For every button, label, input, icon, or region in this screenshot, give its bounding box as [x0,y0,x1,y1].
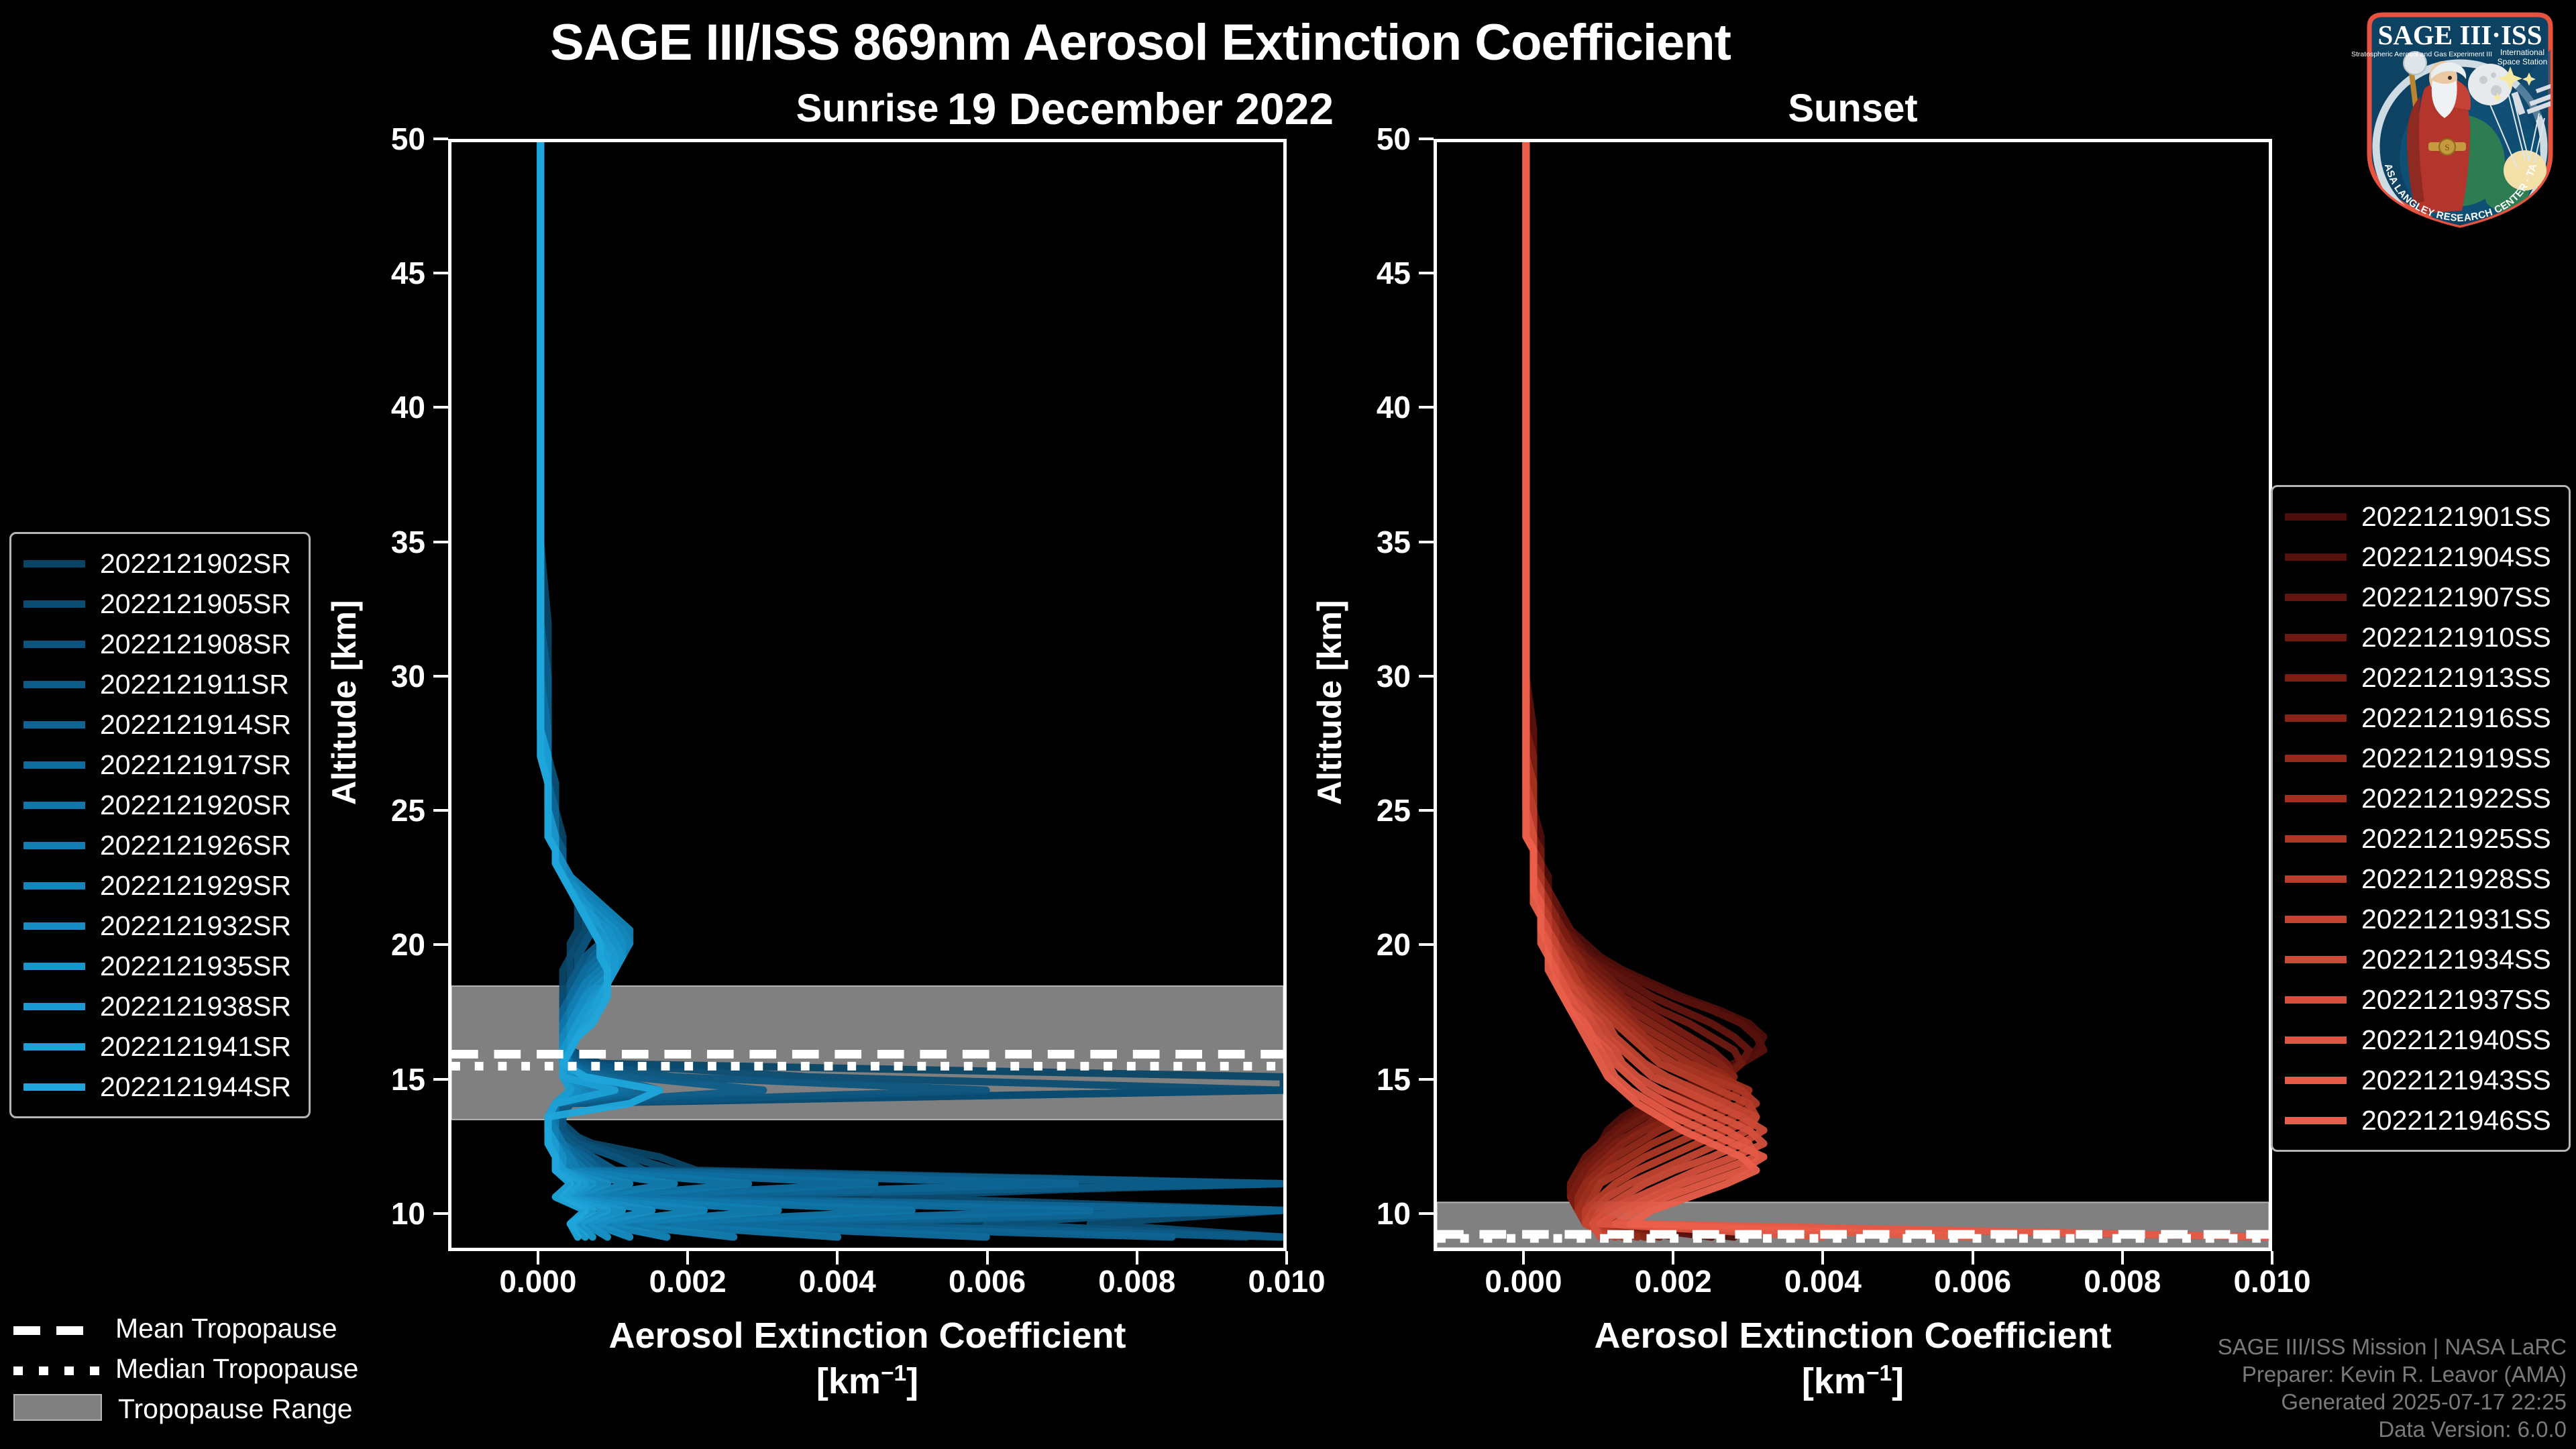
y-tick-mark [1419,809,1434,812]
legend-color-swatch-icon [2285,714,2347,722]
legend-label: 2022121928SS [2361,863,2551,895]
y-tick-mark [1419,1212,1434,1215]
legend-label: 2022121944SR [100,1071,291,1103]
logo-subtitle-right-2: Space Station [2498,57,2548,66]
x-tick-mark [537,1251,539,1265]
x-tick-mark [2271,1251,2273,1265]
y-tick-mark [433,138,448,140]
dotted-line-icon [13,1366,99,1375]
y-tick-label: 45 [338,255,425,291]
sunset-legend-item[interactable]: 2022121916SS [2285,698,2551,738]
sunrise-legend-item[interactable]: 2022121932SR [23,906,291,946]
y-tick-label: 40 [338,389,425,425]
sunset-legend[interactable]: 2022121901SS2022121904SS2022121907SS2022… [2271,485,2571,1152]
legend-item-median-tropopause: Median Tropopause [13,1348,358,1389]
legend-label: 2022121925SS [2361,823,2551,855]
y-tick-mark [433,541,448,543]
sunrise-y-axis-label: Altitude [km] [325,600,364,805]
legend-label: 2022121905SR [100,588,291,620]
legend-label: 2022121919SS [2361,743,2551,774]
legend-color-swatch-icon [23,641,85,648]
y-tick-label: 50 [338,121,425,157]
x-tick-mark [1285,1251,1288,1265]
x-tick-mark [2121,1251,2124,1265]
unit-exponent: −1 [881,1361,906,1386]
sunrise-x-axis: 0.0000.0020.0040.0060.0080.010 [448,1251,1287,1305]
x-tick-label: 0.000 [1485,1263,1562,1299]
legend-label: 2022121913SS [2361,662,2551,694]
sunrise-legend-item[interactable]: 2022121941SR [23,1026,291,1067]
x-tick-label: 0.004 [1784,1263,1862,1299]
unit-base: [km [1802,1361,1866,1401]
x-tick-label: 0.008 [1098,1263,1175,1299]
legend-label-mean-tropopause: Mean Tropopause [115,1313,337,1344]
sunset-legend-item[interactable]: 2022121913SS [2285,657,2551,698]
legend-label: 2022121943SS [2361,1065,2551,1096]
legend-color-swatch-icon [2285,1117,2347,1124]
sage-iii-iss-mission-patch-logo: S BALL · NASA LANGLEY RESEARCH CENTER · … [2349,3,2571,231]
legend-label: 2022121926SR [100,830,291,861]
unit-exponent: −1 [1866,1361,1892,1386]
sunrise-legend-item[interactable]: 2022121944SR [23,1067,291,1107]
y-tick-mark [433,943,448,946]
legend-color-swatch-icon [23,1083,85,1091]
y-tick-label: 50 [1324,121,1411,157]
x-tick-mark [1672,1251,1674,1265]
legend-label: 2022121908SR [100,629,291,660]
y-tick-mark [433,675,448,678]
sunrise-legend-item[interactable]: 2022121917SR [23,745,291,785]
gray-band-icon [13,1394,102,1421]
sunset-legend-item[interactable]: 2022121925SS [2285,818,2551,859]
sunset-legend-item[interactable]: 2022121940SS [2285,1020,2551,1060]
sunrise-legend[interactable]: 2022121902SR2022121905SR2022121908SR2022… [9,532,311,1118]
legend-label: 2022121932SR [100,910,291,942]
y-tick-label: 45 [1324,255,1411,291]
sunrise-legend-item[interactable]: 2022121935SR [23,946,291,986]
y-tick-label: 10 [1324,1195,1411,1232]
sunset-legend-item[interactable]: 2022121928SS [2285,859,2551,899]
logo-title: SAGE III·ISS [2378,19,2542,50]
legend-color-swatch-icon [2285,996,2347,1004]
legend-label: 2022121914SR [100,709,291,741]
legend-color-swatch-icon [2285,634,2347,641]
legend-color-swatch-icon [2285,755,2347,762]
tropopause-legend: Mean Tropopause Median Tropopause Tropop… [13,1308,358,1429]
x-tick-mark [1522,1251,1525,1265]
legend-label: 2022121929SR [100,870,291,902]
x-tick-label: 0.004 [799,1263,876,1299]
legend-color-swatch-icon [2285,513,2347,521]
legend-color-swatch-icon [2285,594,2347,601]
legend-label: 2022121934SS [2361,944,2551,975]
sunset-legend-item[interactable]: 2022121907SS [2285,577,2551,617]
dashed-line-icon [13,1326,99,1335]
y-tick-label: 10 [338,1195,425,1232]
sunrise-legend-item[interactable]: 2022121929SR [23,865,291,906]
y-tick-mark [433,1212,448,1215]
legend-color-swatch-icon [23,802,85,809]
sunset-legend-item[interactable]: 2022121910SS [2285,617,2551,657]
y-tick-label: 20 [1324,926,1411,963]
sunrise-legend-item[interactable]: 2022121911SR [23,664,291,704]
y-tick-mark [433,809,448,812]
legend-color-swatch-icon [2285,674,2347,682]
sunrise-x-axis-unit: [km−1] [448,1360,1287,1402]
legend-color-swatch-icon [23,922,85,930]
footer-credits: SAGE III/ISS Mission | NASA LaRC Prepare… [2218,1334,2567,1444]
x-tick-mark [1136,1251,1138,1265]
legend-color-swatch-icon [23,882,85,890]
legend-label: 2022121911SR [100,669,289,700]
sunset-legend-item[interactable]: 2022121901SS [2285,496,2551,537]
legend-color-swatch-icon [23,1003,85,1010]
legend-color-swatch-icon [2285,1077,2347,1084]
y-tick-mark [1419,541,1434,543]
legend-label: 2022121937SS [2361,984,2551,1016]
y-tick-mark [433,272,448,274]
logo-subtitle-left: Stratospheric Aerosol and Gas Experiment… [2351,50,2492,58]
legend-item-mean-tropopause: Mean Tropopause [13,1308,358,1348]
sunset-legend-item[interactable]: 2022121931SS [2285,899,2551,939]
legend-color-swatch-icon [23,721,85,729]
legend-label-median-tropopause: Median Tropopause [115,1353,358,1385]
legend-color-swatch-icon [23,600,85,608]
legend-color-swatch-icon [2285,875,2347,883]
sunrise-legend-item[interactable]: 2022121902SR [23,543,291,584]
y-tick-mark [1419,675,1434,678]
legend-color-swatch-icon [2285,835,2347,843]
legend-color-swatch-icon [23,963,85,970]
y-tick-mark [433,1078,448,1081]
y-tick-label: 20 [338,926,425,963]
legend-label: 2022121922SS [2361,783,2551,814]
footer-generated: Generated 2025-07-17 22:25 [2218,1389,2567,1416]
x-tick-label: 0.006 [949,1263,1026,1299]
legend-label: 2022121946SS [2361,1105,2551,1136]
y-tick-mark [1419,943,1434,946]
legend-label: 2022121916SS [2361,702,2551,734]
sunrise-legend-item[interactable]: 2022121914SR [23,704,291,745]
x-tick-label: 0.010 [2233,1263,2310,1299]
sunset-legend-item[interactable]: 2022121937SS [2285,979,2551,1020]
sunset-panel-title: Sunset [1434,86,2272,131]
legend-label: 2022121917SR [100,749,291,781]
y-tick-label: 35 [338,524,425,560]
footer-preparer: Preparer: Kevin R. Leavor (AMA) [2218,1361,2567,1389]
legend-color-swatch-icon [2285,956,2347,963]
x-tick-label: 0.008 [2084,1263,2161,1299]
legend-color-swatch-icon [23,1043,85,1051]
legend-label: 2022121904SS [2361,541,2551,573]
sunrise-panel-title: Sunrise [448,86,1287,131]
legend-label-tropopause-range: Tropopause Range [118,1393,353,1425]
legend-color-swatch-icon [2285,795,2347,802]
sunset-x-axis: 0.0000.0020.0040.0060.0080.010 [1434,1251,2272,1305]
legend-label: 2022121938SR [100,991,291,1022]
x-tick-label: 0.010 [1248,1263,1325,1299]
logo-subtitle-right-1: International [2500,48,2544,57]
x-tick-label: 0.002 [1635,1263,1712,1299]
y-tick-mark [433,406,448,409]
sunset-x-axis-label: Aerosol Extinction Coefficient [1434,1315,2272,1356]
x-tick-label: 0.000 [499,1263,576,1299]
sunrise-legend-item[interactable]: 2022121938SR [23,986,291,1026]
x-tick-label: 0.006 [1934,1263,2011,1299]
legend-label: 2022121902SR [100,548,291,580]
sunrise-legend-item[interactable]: 2022121920SR [23,785,291,825]
sunset-y-axis-label: Altitude [km] [1310,600,1349,805]
sunset-legend-item[interactable]: 2022121946SS [2285,1100,2551,1140]
svg-text:S: S [2445,142,2449,152]
x-tick-label: 0.002 [649,1263,727,1299]
legend-color-swatch-icon [2285,553,2347,561]
x-tick-mark [986,1251,989,1265]
y-tick-mark [1419,138,1434,140]
sunrise-legend-item[interactable]: 2022121905SR [23,584,291,624]
sunrise-legend-item[interactable]: 2022121908SR [23,624,291,664]
legend-color-swatch-icon [2285,916,2347,923]
legend-label: 2022121931SS [2361,904,2551,935]
legend-label: 2022121935SR [100,951,291,982]
sunset-legend-item[interactable]: 2022121943SS [2285,1060,2551,1100]
y-tick-mark [1419,406,1434,409]
legend-color-swatch-icon [23,842,85,849]
unit-close: ] [906,1361,918,1401]
sunrise-x-axis-label: Aerosol Extinction Coefficient [448,1315,1287,1356]
unit-base: [km [816,1361,881,1401]
x-tick-mark [1821,1251,1824,1265]
x-tick-mark [836,1251,839,1265]
sunset-legend-item[interactable]: 2022121919SS [2285,738,2551,778]
footer-data-version: Data Version: 6.0.0 [2218,1416,2567,1444]
y-tick-label: 40 [1324,389,1411,425]
legend-color-swatch-icon [2285,1036,2347,1044]
legend-color-swatch-icon [23,761,85,769]
sunrise-legend-item[interactable]: 2022121926SR [23,825,291,865]
sunset-legend-item[interactable]: 2022121934SS [2285,939,2551,979]
legend-label: 2022121941SR [100,1031,291,1063]
y-tick-mark [1419,272,1434,274]
legend-color-swatch-icon [23,681,85,688]
legend-color-swatch-icon [23,560,85,568]
x-tick-mark [686,1251,689,1265]
page-title: SAGE III/ISS 869nm Aerosol Extinction Co… [0,13,2281,72]
sunset-legend-item[interactable]: 2022121922SS [2285,778,2551,818]
sunset-legend-item[interactable]: 2022121904SS [2285,537,2551,577]
legend-label: 2022121940SS [2361,1024,2551,1056]
sunset-x-axis-unit: [km−1] [1434,1360,2272,1402]
legend-item-tropopause-range: Tropopause Range [13,1389,358,1429]
y-tick-mark [1419,1078,1434,1081]
sunset-plot-area [1434,139,2272,1251]
legend-label: 2022121901SS [2361,501,2551,533]
legend-label: 2022121910SS [2361,622,2551,653]
legend-label: 2022121907SS [2361,582,2551,613]
profile-line [1526,142,1972,1237]
sunrise-plot-area [448,139,1287,1251]
y-tick-label: 15 [1324,1061,1411,1097]
unit-close: ] [1892,1361,1904,1401]
x-tick-mark [1972,1251,1974,1265]
y-tick-label: 15 [338,1061,425,1097]
y-tick-label: 35 [1324,524,1411,560]
footer-mission: SAGE III/ISS Mission | NASA LaRC [2218,1334,2567,1361]
legend-label: 2022121920SR [100,790,291,821]
